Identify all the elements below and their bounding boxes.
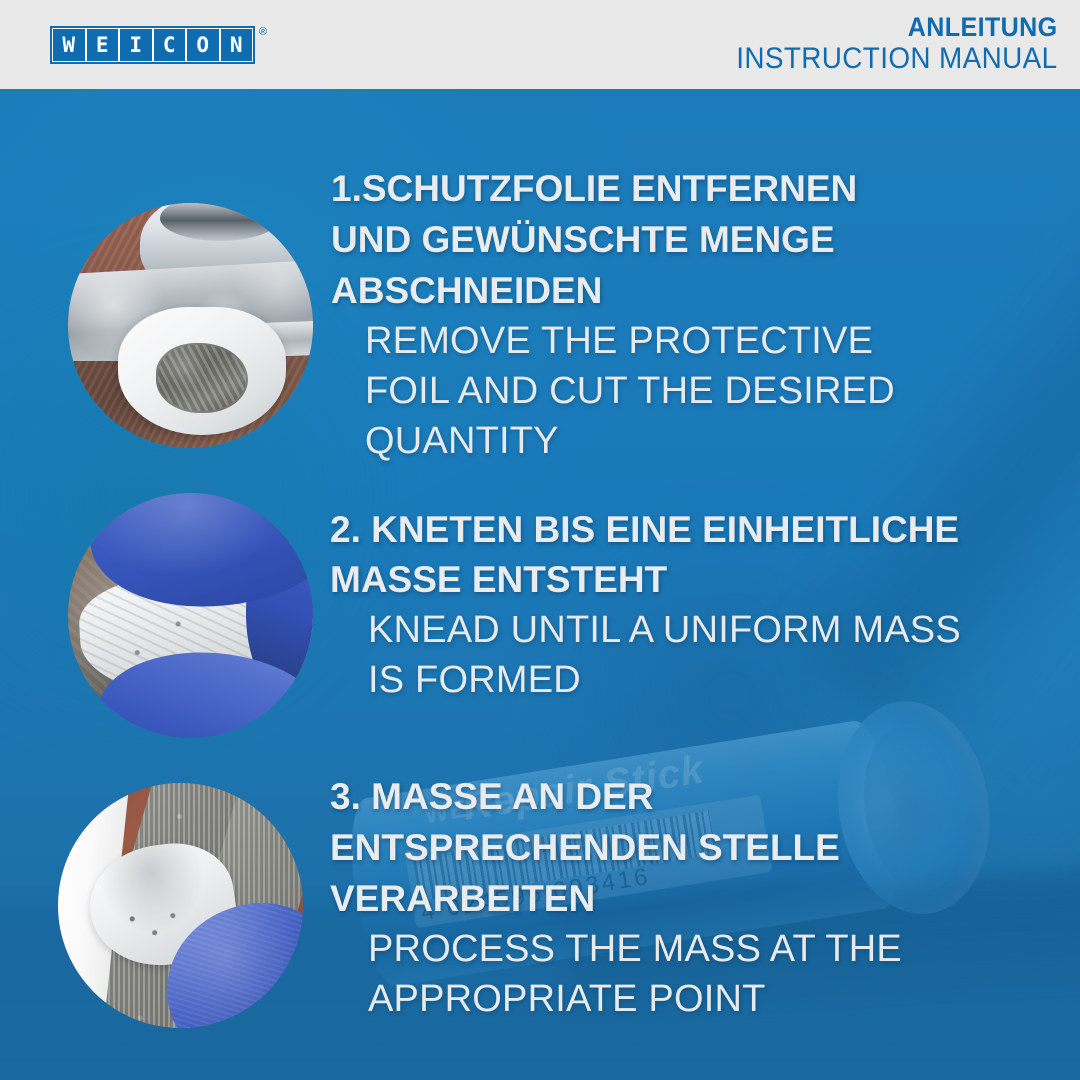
step-3: 3. MASSE AN DER ENTSPRECHENDEN STELLE VE… — [324, 771, 1044, 1024]
logo-letter-o: O — [187, 29, 219, 61]
step-photo-2 — [68, 493, 313, 738]
logo-letter-i: I — [120, 29, 152, 61]
instruction-manual-page: W E I C O N ® ANLEITUNG INSTRUCTION MANU… — [0, 0, 1080, 1080]
step-3-text-de: 3. MASSE AN DER ENTSPRECHENDEN STELLE VE… — [324, 771, 1044, 924]
step-1-text-de: 1.SCHUTZFOLIE ENTFERNEN UND GEWÜNSCHTE M… — [331, 163, 1031, 316]
logo-letter-w: W — [53, 29, 85, 61]
header-title-de: ANLEITUNG — [737, 12, 1058, 42]
photo1-grey-core — [156, 343, 248, 413]
step-2: 2. KNETEN BIS EINE EINHEITLICHE MASSE EN… — [324, 505, 1044, 705]
step-1: 1.SCHUTZFOLIE ENTFERNEN UND GEWÜNSCHTE M… — [331, 163, 1031, 466]
step-1-text-en: REMOVE THE PROTECTIVE FOIL AND CUT THE D… — [331, 316, 1031, 466]
page-header: W E I C O N ® ANLEITUNG INSTRUCTION MANU… — [0, 0, 1080, 89]
header-title-block: ANLEITUNG INSTRUCTION MANUAL — [712, 12, 1058, 76]
step-3-text-en: PROCESS THE MASS AT THE APPROPRIATE POIN… — [324, 924, 1044, 1024]
header-title-en: INSTRUCTION MANUAL — [737, 42, 1058, 76]
registered-trademark-icon: ® — [259, 26, 267, 38]
step-2-text-en: KNEAD UNTIL A UNIFORM MASS IS FORMED — [324, 605, 1044, 705]
weicon-logo: W E I C O N — [50, 26, 255, 64]
step-photo-1 — [68, 203, 313, 448]
step-2-text-de: 2. KNETEN BIS EINE EINHEITLICHE MASSE EN… — [324, 505, 1044, 605]
logo-letter-n: N — [221, 29, 253, 61]
step-photo-3 — [58, 783, 303, 1028]
logo-letter-e: E — [87, 29, 119, 61]
logo-letter-c: C — [154, 29, 186, 61]
